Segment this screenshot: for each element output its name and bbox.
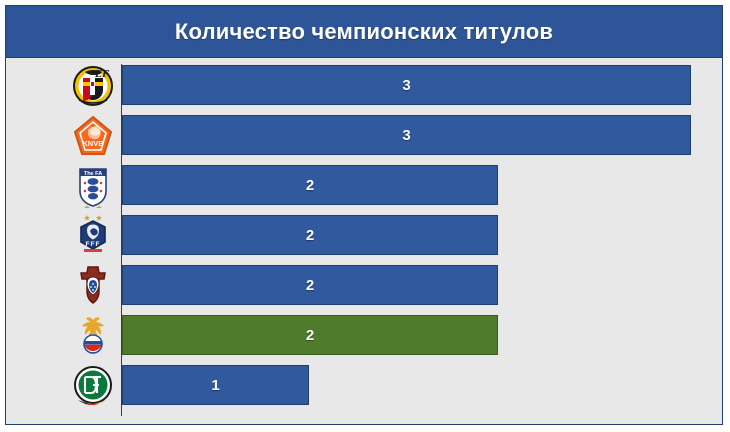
france-fff-crest-icon: FFF — [68, 213, 118, 259]
svg-text:E: E — [94, 68, 102, 80]
russia-rfu-crest-icon — [68, 313, 118, 359]
svg-text:The FA: The FA — [84, 171, 102, 177]
bar-germany[interactable]: 1 — [122, 365, 309, 405]
bar-netherlands[interactable]: 3 — [122, 115, 691, 155]
germany-dfb-crest-icon — [68, 363, 118, 409]
bar-portugal[interactable]: 2 — [122, 265, 498, 305]
bar-row: F E 3 — [6, 61, 722, 111]
bar-row: KNVB 3 — [6, 111, 722, 161]
bar-row: FFF 2 — [6, 211, 722, 261]
portugal-fpf-crest-icon — [68, 263, 118, 309]
bar-value-label: 2 — [306, 177, 314, 194]
bar-row: 1 — [6, 361, 722, 411]
bar-row: The FA 2 — [6, 161, 722, 211]
bar-value-label: 2 — [306, 227, 314, 244]
chart-container: Количество чемпионских титулов F E — [5, 5, 723, 425]
bar-spain[interactable]: 3 — [122, 65, 691, 105]
bar-row: 2 — [6, 261, 722, 311]
bar-value-label: 2 — [306, 327, 314, 344]
chart-title: Количество чемпионских титулов — [175, 19, 553, 45]
bar-france[interactable]: 2 — [122, 215, 498, 255]
bar-value-label: 2 — [306, 277, 314, 294]
bar-row: 2 — [6, 311, 722, 361]
spain-rfef-crest-icon: F E — [68, 63, 118, 109]
svg-text:FFF: FFF — [86, 241, 101, 248]
plot-area: F E 3 KNVB 3 — [6, 59, 722, 424]
chart-title-banner: Количество чемпионских титулов — [6, 6, 722, 58]
svg-text:F: F — [101, 68, 110, 80]
england-fa-crest-icon: The FA — [68, 163, 118, 209]
bar-value-label: 1 — [211, 377, 219, 394]
bar-value-label: 3 — [402, 77, 410, 94]
svg-text:KNVB: KNVB — [82, 139, 104, 148]
bar-russia[interactable]: 2 — [122, 315, 498, 355]
bar-england[interactable]: 2 — [122, 165, 498, 205]
bar-value-label: 3 — [402, 127, 410, 144]
netherlands-knvb-crest-icon: KNVB — [68, 113, 118, 159]
